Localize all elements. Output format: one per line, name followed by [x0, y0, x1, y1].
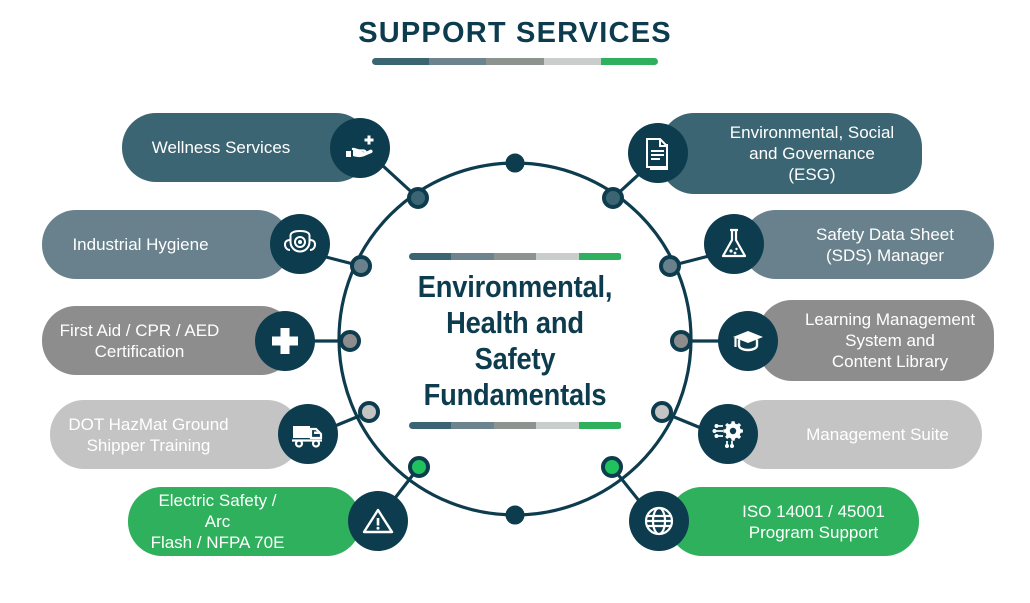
node-left-3	[341, 332, 359, 350]
node-left-2	[352, 257, 370, 275]
tech-gear-icon	[698, 404, 758, 464]
node-top	[507, 155, 523, 171]
accent-segment-1	[409, 253, 452, 260]
center-accent-bar-bottom	[409, 422, 622, 429]
accent-segment-2	[451, 422, 494, 429]
accent-segment-4	[536, 422, 579, 429]
pill-dot-hazmat-shipper[interactable]: DOT HazMat Ground Shipper Training	[50, 400, 301, 469]
infographic-canvas: SUPPORT SERVICES	[0, 0, 1030, 603]
pill-esg[interactable]: Environmental, Social and Governance (ES…	[660, 113, 922, 194]
medical-cross-icon	[255, 311, 315, 371]
pill-lms-content-library[interactable]: Learning Management System and Content L…	[758, 300, 994, 381]
node-right-4	[653, 403, 671, 421]
pill-iso-program-support[interactable]: ISO 14001 / 45001 Program Support	[668, 487, 919, 556]
respirator-mask-icon	[270, 214, 330, 274]
pill-label: Safety Data Sheet (SDS) Manager	[794, 224, 976, 266]
pill-management-suite[interactable]: Management Suite	[731, 400, 982, 469]
node-right-2	[661, 257, 679, 275]
documents-icon	[628, 123, 688, 183]
node-right-5	[603, 458, 621, 476]
center-accent-bar-top	[409, 253, 622, 260]
graduation-cap-icon	[718, 311, 778, 371]
globe-icon	[629, 491, 689, 551]
node-bottom	[507, 507, 523, 523]
pill-sds-manager[interactable]: Safety Data Sheet (SDS) Manager	[742, 210, 994, 279]
accent-segment-1	[409, 422, 452, 429]
accent-segment-2	[451, 253, 494, 260]
pill-label: First Aid / CPR / AED Certification	[56, 320, 223, 362]
warning-triangle-icon	[348, 491, 408, 551]
flask-icon	[704, 214, 764, 274]
node-right-3	[672, 332, 690, 350]
pill-electric-safety-arc-flash[interactable]: Electric Safety / Arc Flash / NFPA 70E	[128, 487, 361, 556]
pill-label: Wellness Services	[142, 137, 300, 158]
accent-segment-4	[536, 253, 579, 260]
pill-label: DOT HazMat Ground Shipper Training	[66, 414, 231, 456]
pill-label: Learning Management System and Content L…	[800, 309, 980, 372]
pill-label: Industrial Hygiene	[60, 234, 221, 255]
hand-heart-plus-icon	[330, 118, 390, 178]
pill-industrial-hygiene[interactable]: Industrial Hygiene	[42, 210, 291, 279]
center-block: Environmental, Health and Safety Fundame…	[390, 245, 640, 429]
pill-label: ISO 14001 / 45001 Program Support	[726, 501, 901, 543]
accent-segment-5	[579, 422, 622, 429]
node-left-4	[360, 403, 378, 421]
delivery-truck-icon	[278, 404, 338, 464]
accent-segment-3	[494, 422, 537, 429]
pill-label: Environmental, Social and Governance (ES…	[720, 122, 904, 185]
node-left-1	[409, 189, 427, 207]
node-left-5	[410, 458, 428, 476]
node-right-1	[604, 189, 622, 207]
accent-segment-3	[494, 253, 537, 260]
accent-segment-5	[579, 253, 622, 260]
pill-label: Electric Safety / Arc Flash / NFPA 70E	[144, 490, 291, 553]
center-title: Environmental, Health and Safety Fundame…	[405, 269, 625, 413]
pill-label: Management Suite	[791, 424, 964, 445]
